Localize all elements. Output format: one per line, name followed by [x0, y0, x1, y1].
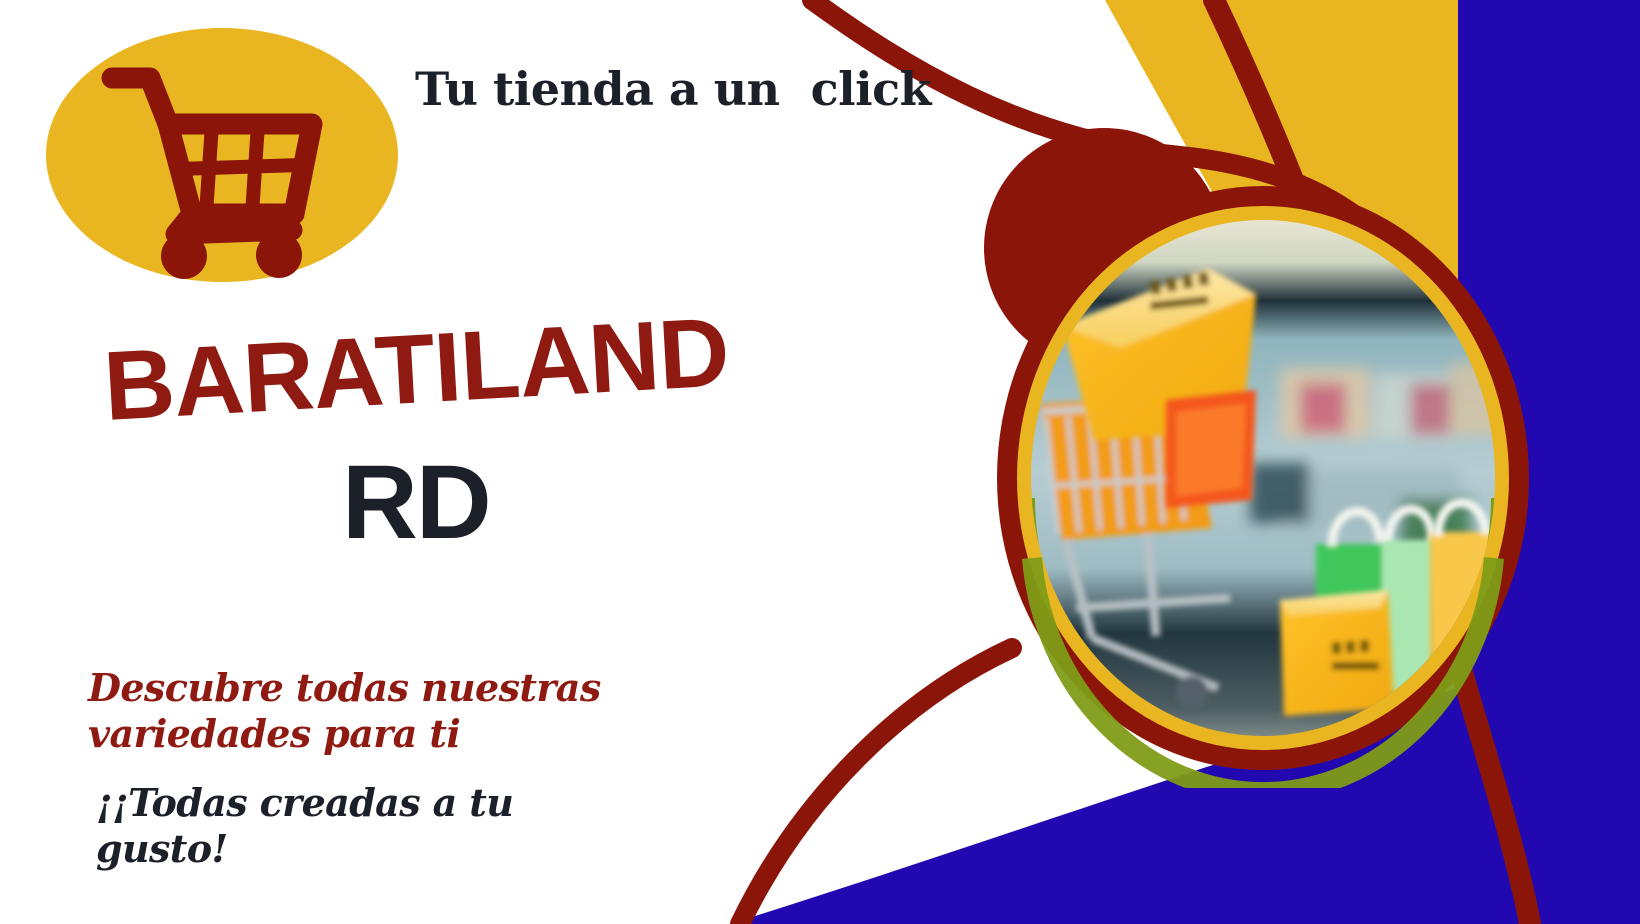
shopping-photo-medallion — [980, 168, 1546, 788]
brand-name-secondary: RD — [342, 443, 490, 563]
logo-badge[interactable] — [46, 28, 398, 282]
promo-banner: Tu tienda a un click BARATILAND RD Descu… — [0, 0, 1640, 924]
cart-wheel-right-icon — [256, 232, 302, 278]
sub-copy: ¡¡Todas creadas a tu gusto! — [96, 780, 656, 873]
lead-copy: Descubre todas nuestras variedades para … — [88, 665, 708, 758]
cart-wheel-left-icon — [161, 233, 207, 279]
tagline: Tu tienda a un click — [415, 62, 931, 116]
logo-ellipse — [46, 28, 398, 282]
